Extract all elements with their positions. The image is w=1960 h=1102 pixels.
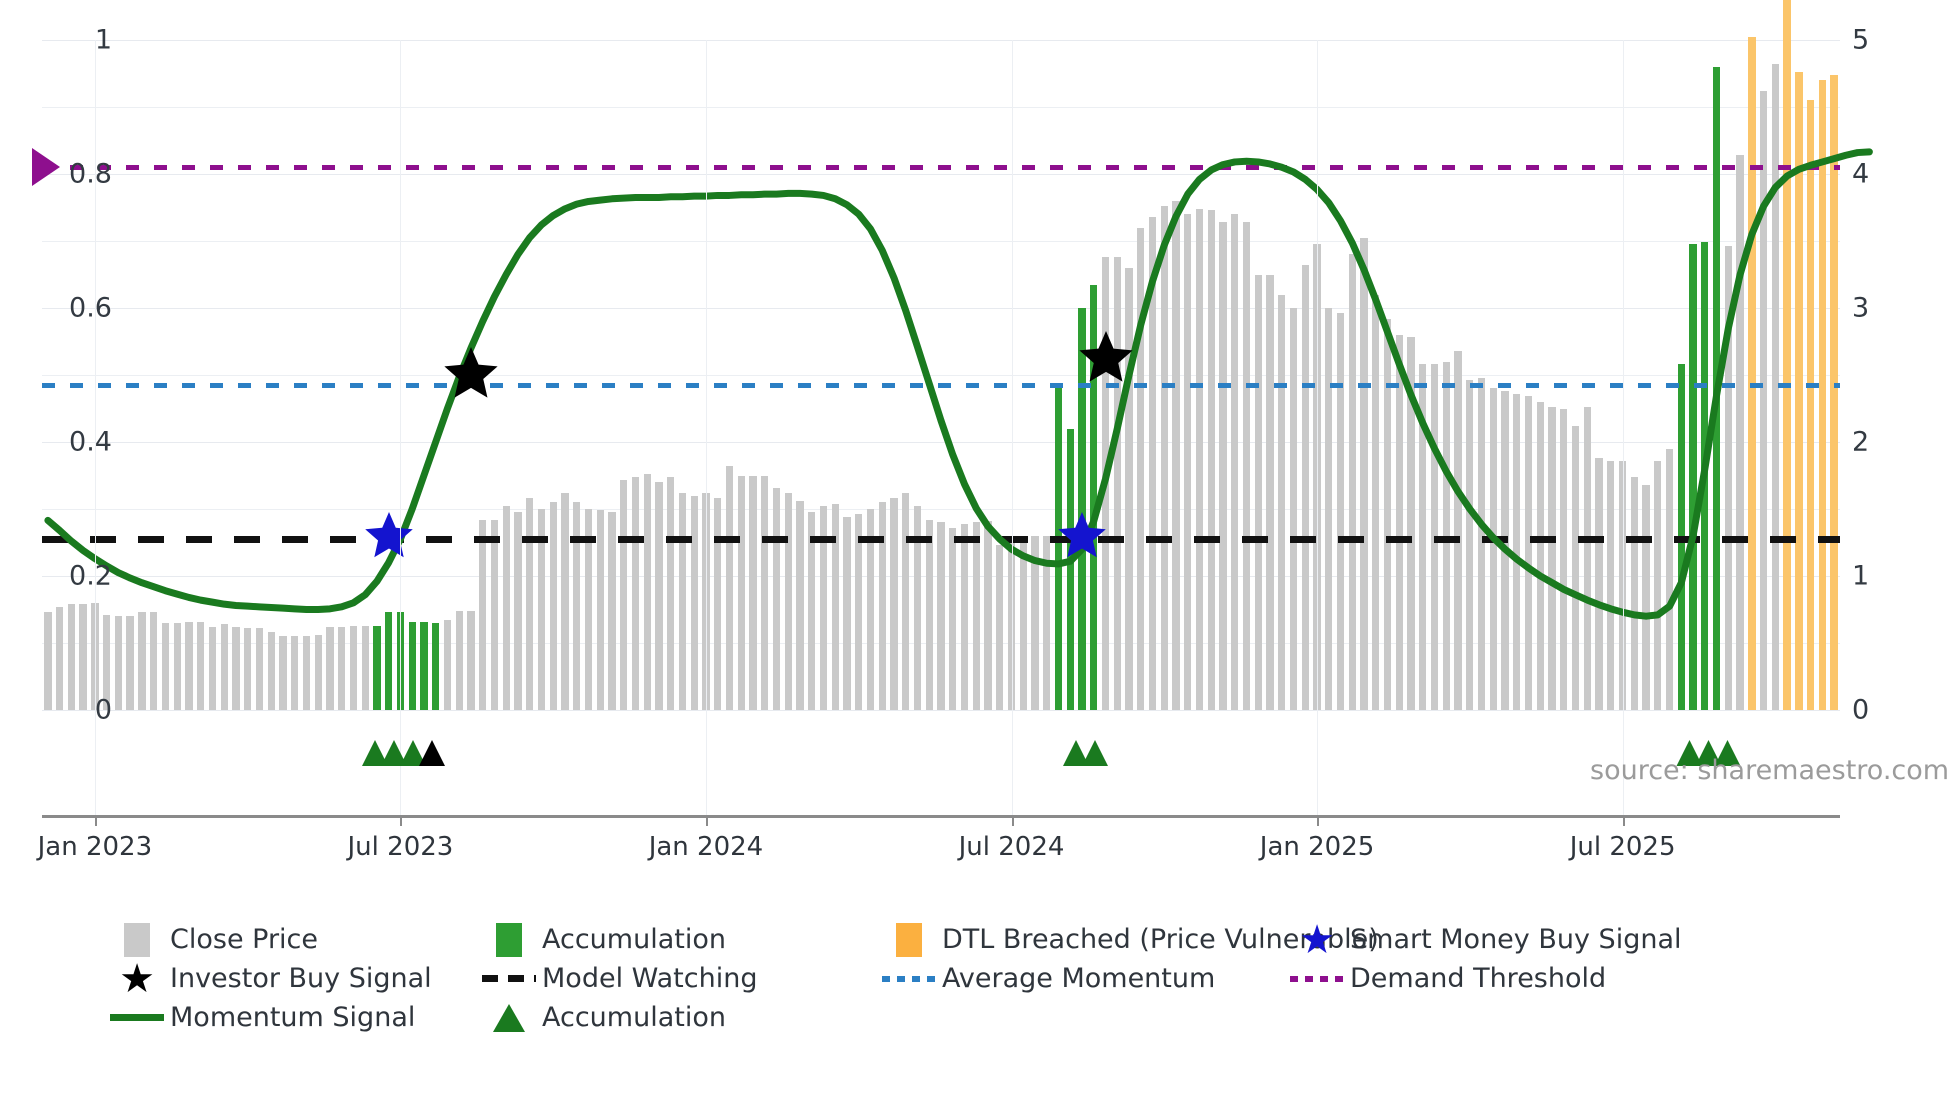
smart-money-star-icon: ★	[1284, 920, 1350, 960]
legend-item[interactable]: Momentum Signal	[104, 998, 415, 1037]
investor-star-icon: ★	[104, 959, 170, 999]
x-axis-tick-label: Jul 2023	[348, 832, 454, 862]
y-axis-right-tick-label: 2	[1852, 427, 1869, 458]
x-gridline	[706, 40, 707, 815]
y-axis-right-tick-label: 0	[1852, 695, 1869, 726]
legend-item-label: Accumulation	[542, 1002, 726, 1033]
accumulation-triangle-icon	[1082, 740, 1108, 766]
x-axis-tick-mark	[1317, 815, 1319, 826]
y-axis-left-tick-label: 0.6	[69, 293, 112, 324]
legend-item-label: Investor Buy Signal	[170, 963, 432, 994]
x-gridline	[1317, 40, 1318, 815]
accumulation-triangle-group	[1063, 740, 1101, 766]
chart-root: 00.20.40.60.81 012345 Jan 2023Jul 2023Ja…	[0, 0, 1960, 1102]
legend-item-label: Close Price	[170, 924, 318, 955]
x-axis-tick-label: Jan 2023	[38, 832, 153, 862]
dtl-breached-swatch-icon	[876, 923, 942, 957]
y-axis-right-tick-label: 1	[1852, 561, 1869, 592]
x-axis-tick-label: Jul 2024	[959, 832, 1065, 862]
smart-money-buy-signal-star	[364, 512, 414, 566]
x-gridline	[95, 40, 96, 815]
smart-money-buy-signal-star	[1057, 512, 1107, 566]
legend-item-label: Average Momentum	[942, 963, 1215, 994]
plot-area	[42, 40, 1840, 710]
x-axis-tick-mark	[1012, 815, 1014, 826]
accumulation-triangle-group	[362, 740, 438, 766]
y-axis-right-tick-label: 4	[1852, 159, 1869, 190]
legend-row: Momentum SignalAccumulation	[104, 998, 1924, 1037]
y-axis-left-tick-label: 0.4	[69, 427, 112, 458]
legend-item-label: Smart Money Buy Signal	[1350, 924, 1682, 955]
y-axis-right-tick-label: 5	[1852, 25, 1869, 56]
source-note: source: sharemaestro.com	[1590, 755, 1949, 786]
x-axis-tick-label: Jan 2024	[649, 832, 764, 862]
accumulation-triangle-icon	[476, 1004, 542, 1032]
x-axis-tick-mark	[95, 815, 97, 826]
y-axis-right-tick-label: 3	[1852, 293, 1869, 324]
close-price-swatch-icon	[104, 923, 170, 957]
x-axis-tick-mark	[1623, 815, 1625, 826]
accumulation-swatch-icon	[476, 923, 542, 957]
legend-row: ★Investor Buy SignalModel WatchingAverag…	[104, 959, 1924, 998]
x-axis-tick-mark	[706, 815, 708, 826]
x-gridline	[400, 40, 401, 815]
investor-triangle-icon	[419, 740, 445, 766]
legend-item[interactable]: ★Smart Money Buy Signal	[1284, 920, 1682, 959]
legend-item-label: Momentum Signal	[170, 1002, 415, 1033]
legend-item[interactable]: Accumulation	[476, 998, 726, 1037]
x-axis-tick-mark	[400, 815, 402, 826]
y-axis-left-tick-label: 0.8	[69, 159, 112, 190]
legend-item-label: Demand Threshold	[1350, 963, 1606, 994]
demand-threshold-line-icon	[1284, 976, 1350, 982]
x-axis-tick-label: Jul 2025	[1570, 832, 1676, 862]
y-axis-left-tick-label: 1	[95, 25, 112, 56]
investor-buy-signal-star	[1078, 331, 1134, 391]
legend-item-label: Model Watching	[542, 963, 757, 994]
average-momentum-line-icon	[876, 976, 942, 982]
legend-item[interactable]: Average Momentum	[876, 959, 1215, 998]
legend-item[interactable]: Demand Threshold	[1284, 959, 1606, 998]
signal-markers	[42, 40, 1840, 710]
model-watching-line-icon	[476, 975, 542, 982]
investor-buy-signal-star	[443, 347, 499, 407]
gridline	[42, 710, 1840, 711]
momentum-line-icon	[104, 1014, 170, 1021]
legend-item[interactable]: Close Price	[104, 920, 318, 959]
x-gridline	[1623, 40, 1624, 815]
legend-item[interactable]: Model Watching	[476, 959, 757, 998]
y-axis-left-tick-label: 0	[95, 695, 112, 726]
legend-item-label: Accumulation	[542, 924, 726, 955]
x-gridline	[1012, 40, 1013, 815]
y-axis-left-tick-label: 0.2	[69, 561, 112, 592]
x-axis-line	[42, 815, 1840, 818]
chart-legend: Close PriceAccumulationDTL Breached (Pri…	[104, 920, 1924, 1037]
legend-row: Close PriceAccumulationDTL Breached (Pri…	[104, 920, 1924, 959]
x-axis-tick-label: Jan 2025	[1260, 832, 1375, 862]
legend-item[interactable]: ★Investor Buy Signal	[104, 959, 432, 998]
legend-item[interactable]: Accumulation	[476, 920, 726, 959]
